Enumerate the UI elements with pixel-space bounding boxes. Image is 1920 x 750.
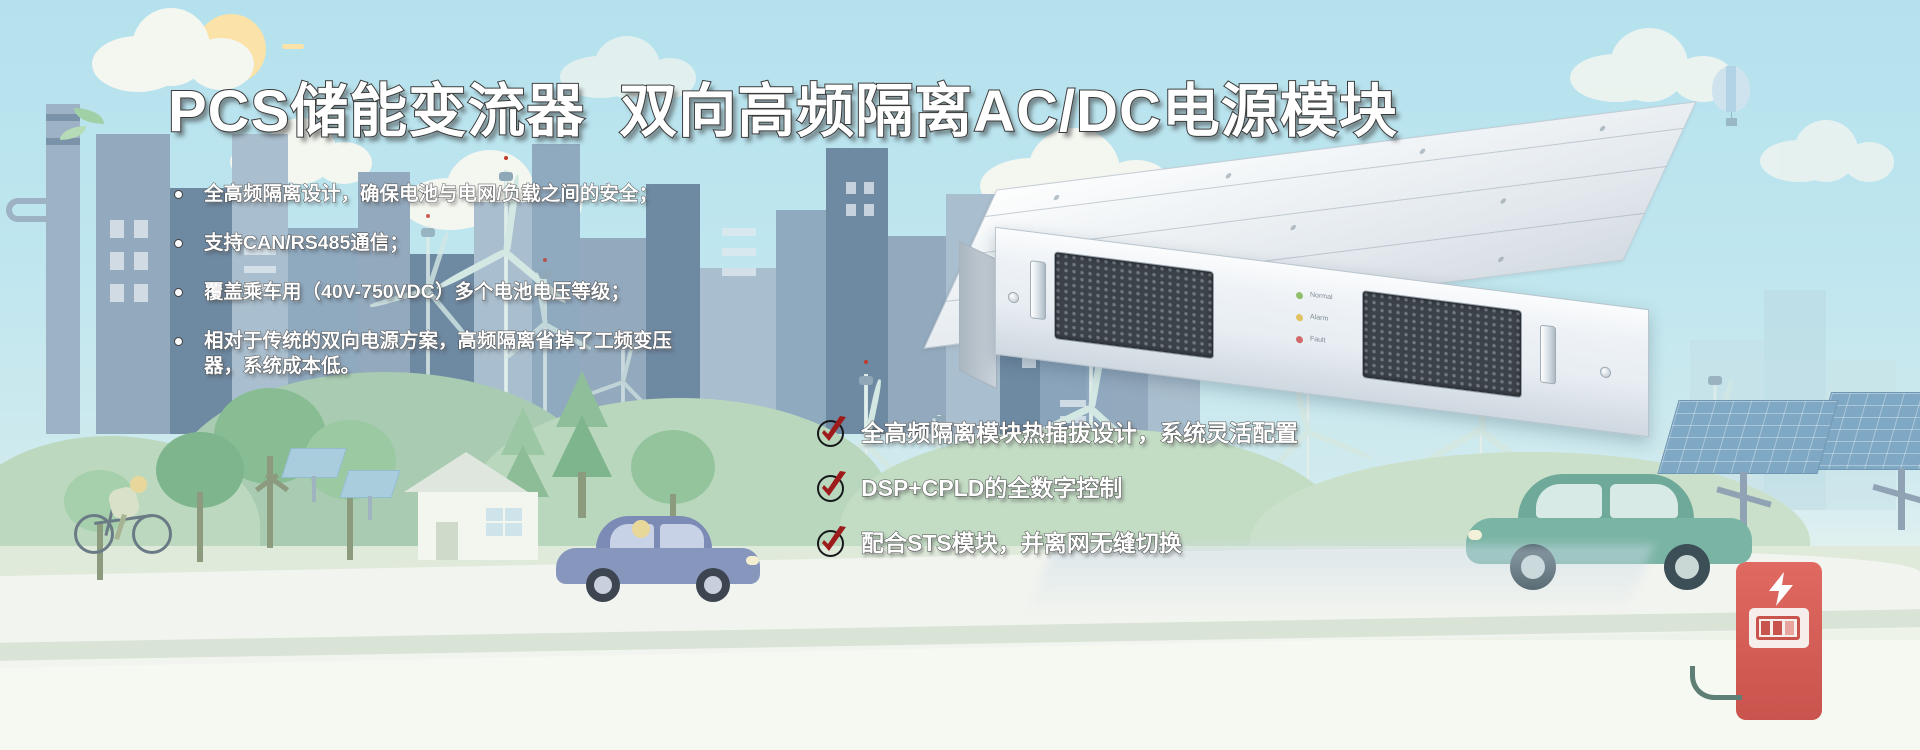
led-label-alarm: Alarm: [1310, 313, 1328, 322]
list-item-label: 支持CAN/RS485通信；: [204, 232, 409, 254]
list-item-label: 全高频隔离设计，确保电池与电网/负载之间的安全；: [204, 183, 658, 205]
house-window: [486, 508, 522, 536]
page-title: PCS储能变流器双向高频隔离AC/DC电源模块: [168, 64, 1398, 148]
list-item: 相对于传统的双向电源方案，高频隔离省掉了工频变压器，系统成本低。: [170, 329, 700, 379]
building-window: [134, 284, 148, 302]
solar-panel-leg: [1872, 484, 1920, 506]
check-circle-icon: [817, 420, 844, 447]
status-led-group: Normal Alarm Fault: [1296, 290, 1333, 361]
building-window: [110, 220, 124, 238]
bullet-dot-icon: [174, 337, 183, 346]
checklist-item-label: 全高频隔离模块热插拔设计，系统灵活配置: [861, 420, 1298, 446]
cyclist: [74, 472, 184, 558]
check-circle-icon: [817, 530, 844, 557]
checklist-item: DSP+CPLD的全数字控制: [815, 473, 1475, 503]
battery-bar: [1761, 621, 1770, 635]
ev-charging-station: [1736, 562, 1822, 722]
bike-wheel: [132, 514, 172, 554]
car-headlight: [746, 556, 759, 565]
module-handle-right: [1540, 325, 1556, 385]
checklist: 全高频隔离模块热插拔设计，系统灵活配置 DSP+CPLD的全数字控制 配合STS…: [815, 418, 1475, 583]
led-fault: Fault: [1296, 334, 1333, 354]
factory-chimney: [46, 104, 80, 434]
house-illustration: [388, 452, 568, 562]
led-label-fault: Fault: [1310, 335, 1326, 344]
bullet-dot-icon: [174, 288, 183, 297]
bullet-dot-icon: [174, 190, 183, 199]
car-window: [660, 524, 704, 550]
car-wheel-hub: [704, 576, 722, 594]
solar-panel-leg: [1898, 468, 1905, 530]
solar-panel-small: [286, 448, 346, 508]
sedan-car: [556, 516, 766, 602]
battery-bar: [1785, 621, 1794, 635]
checklist-item-label: 配合STS模块，并离网无缝切换: [861, 530, 1182, 556]
module-side-panel: [959, 241, 997, 390]
sun-ray-icon: [282, 44, 304, 49]
building-window: [134, 220, 148, 238]
list-item-label: 覆盖乘车用（40V-750VDC）多个电池电压等级；: [204, 281, 630, 303]
house-door: [436, 522, 458, 560]
list-item: 覆盖乘车用（40V-750VDC）多个电池电压等级；: [170, 280, 870, 305]
car-driver: [632, 520, 650, 538]
checklist-item-label: DSP+CPLD的全数字控制: [861, 475, 1122, 501]
tree-trunk: [197, 492, 203, 562]
front-knob: [1008, 291, 1019, 303]
building-window: [110, 252, 124, 270]
solar-panel: [1657, 400, 1838, 474]
car-window: [1536, 484, 1602, 518]
chimney-pipe: [6, 198, 48, 222]
led-label-normal: Normal: [1310, 291, 1333, 301]
list-item: 全高频隔离设计，确保电池与电网/负载之间的安全；: [170, 182, 870, 207]
checklist-item: 全高频隔离模块热插拔设计，系统灵活配置: [815, 418, 1475, 448]
check-circle-icon: [817, 475, 844, 502]
led-normal: Normal: [1296, 290, 1333, 310]
promotional-banner: Normal Alarm Fault PCS储能变流器双向高频隔离AC/DC电源…: [0, 0, 1920, 750]
building-window: [110, 284, 124, 302]
pcs-power-module: Normal Alarm Fault: [960, 150, 1700, 410]
cyclist-head: [130, 476, 147, 493]
car-window: [1610, 484, 1678, 518]
headline-left: PCS储能变流器: [168, 79, 585, 144]
module-handle-left: [1030, 260, 1046, 320]
led-alarm: Alarm: [1296, 312, 1333, 332]
feature-bullet-list: 全高频隔离设计，确保电池与电网/负载之间的安全； 支持CAN/RS485通信； …: [170, 182, 870, 403]
building: [96, 134, 170, 434]
solar-panel-small: [344, 470, 404, 526]
battery-bar: [1773, 621, 1782, 635]
ventilation-grille-left: [1054, 251, 1214, 359]
ventilation-grille-right: [1362, 290, 1522, 398]
tree-crown: [631, 430, 715, 504]
list-item-label: 相对于传统的双向电源方案，高频隔离省掉了工频变压器，系统成本低。: [204, 330, 672, 377]
headline-right: 双向高频隔离AC/DC电源模块: [619, 79, 1398, 144]
car-wheel-hub: [1675, 555, 1699, 579]
house-roof: [404, 452, 528, 492]
checklist-item: 配合STS模块，并离网无缝切换: [815, 528, 1475, 558]
bullet-dot-icon: [174, 239, 183, 248]
front-knob: [1600, 366, 1611, 378]
list-item: 支持CAN/RS485通信；: [170, 231, 870, 256]
car-wheel-hub: [594, 576, 612, 594]
building-window: [134, 252, 148, 270]
tree-trunk: [267, 456, 273, 548]
